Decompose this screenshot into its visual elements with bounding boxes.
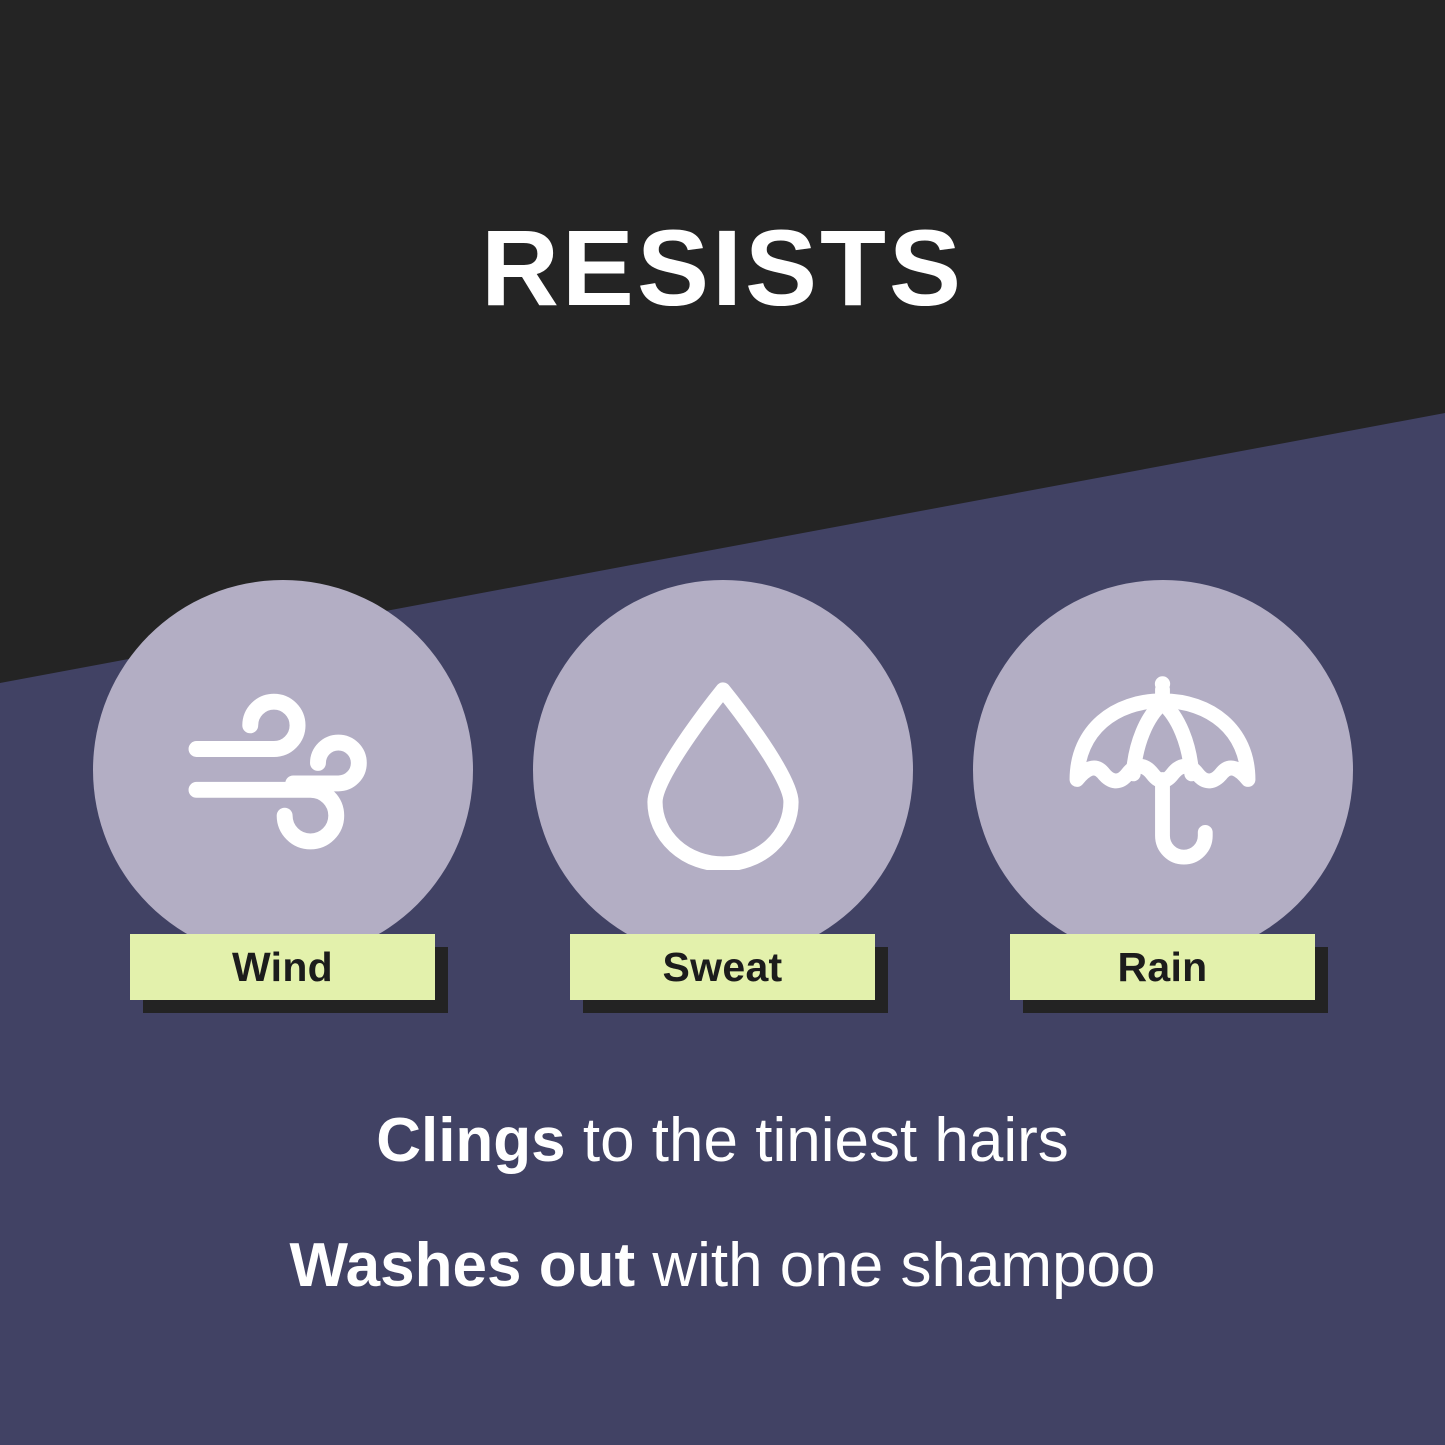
page-title: RESISTS bbox=[0, 214, 1445, 322]
marketing-poster: RESISTS Wind bbox=[0, 0, 1445, 1445]
feature-wind: Wind bbox=[93, 580, 473, 1000]
feature-row: Wind Sweat bbox=[0, 580, 1445, 1000]
badge-wind: Wind bbox=[130, 934, 435, 1000]
tagline-2-bold: Washes out bbox=[289, 1231, 635, 1300]
badge-sweat: Sweat bbox=[570, 934, 875, 1000]
tagline-line-2: Washes out with one shampoo bbox=[0, 1235, 1445, 1297]
umbrella-icon bbox=[1050, 658, 1275, 883]
feature-sweat: Sweat bbox=[533, 580, 913, 1000]
icon-circle-sweat bbox=[533, 580, 913, 960]
badge-surface: Sweat bbox=[570, 934, 875, 1000]
badge-label-rain: Rain bbox=[1117, 947, 1207, 988]
badge-label-wind: Wind bbox=[232, 947, 333, 988]
badge-surface: Wind bbox=[130, 934, 435, 1000]
tagline-1-rest: to the tiniest hairs bbox=[566, 1106, 1069, 1175]
badge-label-sweat: Sweat bbox=[663, 947, 783, 988]
feature-rain: Rain bbox=[973, 580, 1353, 1000]
wind-icon bbox=[175, 663, 390, 878]
tagline-line-1: Clings to the tiniest hairs bbox=[0, 1110, 1445, 1172]
water-drop-icon bbox=[623, 670, 823, 870]
tagline-1-bold: Clings bbox=[376, 1106, 565, 1175]
tagline-block: Clings to the tiniest hairs Washes out w… bbox=[0, 1110, 1445, 1297]
badge-surface: Rain bbox=[1010, 934, 1315, 1000]
icon-circle-rain bbox=[973, 580, 1353, 960]
tagline-2-rest: with one shampoo bbox=[635, 1231, 1155, 1300]
icon-circle-wind bbox=[93, 580, 473, 960]
badge-rain: Rain bbox=[1010, 934, 1315, 1000]
